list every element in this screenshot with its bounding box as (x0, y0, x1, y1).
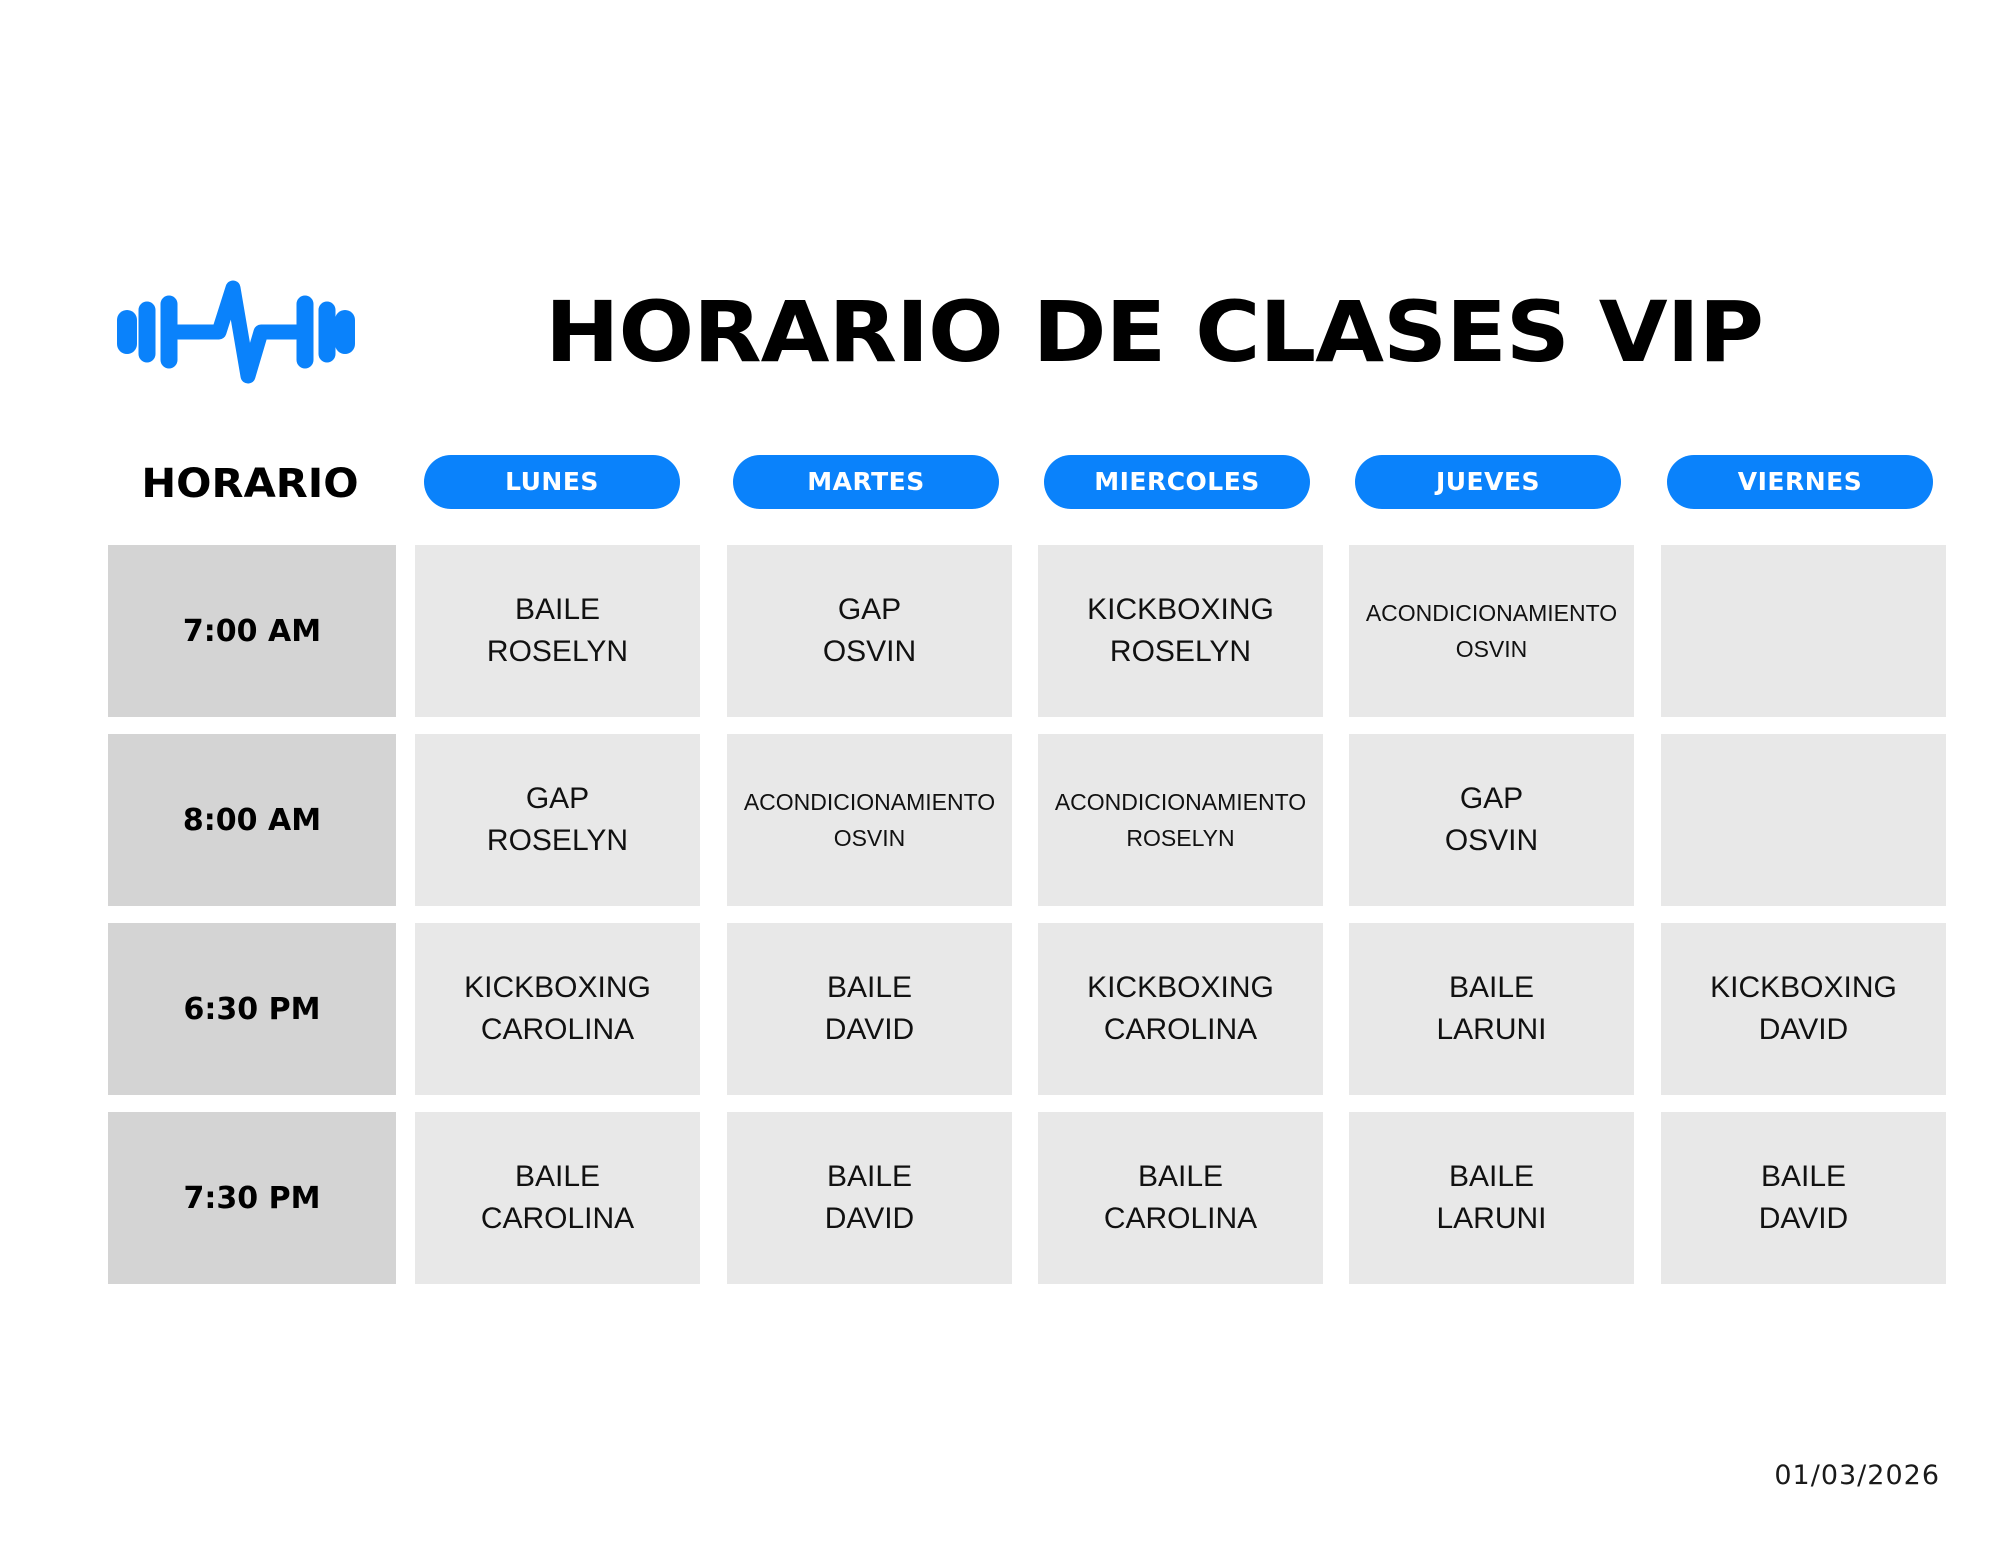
class-name: KICKBOXING (1710, 967, 1897, 1009)
class-name: BAILE (827, 1156, 912, 1198)
instructor-name: LARUNI (1436, 1009, 1546, 1051)
instructor-name: DAVID (825, 1198, 914, 1240)
table-row: 8:00 AM GAP ROSELYN ACONDICIONAMIENTO OS… (0, 734, 2000, 906)
schedule-cell[interactable]: BAILE DAVID (1661, 1112, 1946, 1284)
schedule-cell[interactable]: BAILE LARUNI (1349, 923, 1634, 1095)
class-name: GAP (1460, 778, 1523, 820)
class-name: GAP (838, 589, 901, 631)
schedule-poster: HORARIO DE CLASES VIP HORARIO LUNES MART… (0, 0, 2000, 1545)
schedule-grid: 7:00 AM BAILE ROSELYN GAP OSVIN KICKBOXI… (0, 545, 2000, 1301)
instructor-name: ROSELYN (487, 631, 628, 673)
schedule-cell[interactable]: GAP OSVIN (727, 545, 1012, 717)
class-name: KICKBOXING (1087, 967, 1274, 1009)
instructor-name: ROSELYN (1126, 820, 1234, 856)
time-column-header: HORARIO (125, 455, 375, 513)
schedule-cell[interactable]: KICKBOXING DAVID (1661, 923, 1946, 1095)
class-name: BAILE (1449, 1156, 1534, 1198)
table-row: 6:30 PM KICKBOXING CAROLINA BAILE DAVID … (0, 923, 2000, 1095)
class-name: BAILE (1449, 967, 1534, 1009)
class-name: ACONDICIONAMIENTO (1366, 595, 1617, 631)
instructor-name: DAVID (825, 1009, 914, 1051)
schedule-cell-empty[interactable] (1661, 545, 1946, 717)
time-cell: 6:30 PM (108, 923, 396, 1095)
schedule-cell[interactable]: BAILE CAROLINA (415, 1112, 700, 1284)
time-cell: 7:00 AM (108, 545, 396, 717)
schedule-cell[interactable]: ACONDICIONAMIENTO OSVIN (1349, 545, 1634, 717)
schedule-cell[interactable]: BAILE DAVID (727, 1112, 1012, 1284)
column-headers: HORARIO LUNES MARTES MIERCOLES JUEVES VI… (0, 455, 2000, 517)
day-header-viernes[interactable]: VIERNES (1667, 455, 1933, 509)
instructor-name: ROSELYN (487, 820, 628, 862)
class-name: BAILE (1138, 1156, 1223, 1198)
time-cell: 7:30 PM (108, 1112, 396, 1284)
footer-date: 01/03/2026 (1774, 1460, 1940, 1491)
instructor-name: CAROLINA (1104, 1198, 1257, 1240)
instructor-name: OSVIN (834, 820, 906, 856)
page-title: HORARIO DE CLASES VIP (545, 272, 1870, 392)
instructor-name: OSVIN (823, 631, 916, 673)
class-name: ACONDICIONAMIENTO (744, 784, 995, 820)
class-name: BAILE (515, 1156, 600, 1198)
instructor-name: CAROLINA (481, 1198, 634, 1240)
class-name: GAP (526, 778, 589, 820)
poster-header: HORARIO DE CLASES VIP (0, 272, 2000, 392)
day-header-martes[interactable]: MARTES (733, 455, 999, 509)
day-header-miercoles[interactable]: MIERCOLES (1044, 455, 1310, 509)
instructor-name: OSVIN (1445, 820, 1538, 862)
instructor-name: OSVIN (1456, 631, 1528, 667)
class-name: ACONDICIONAMIENTO (1055, 784, 1306, 820)
class-name: BAILE (515, 589, 600, 631)
class-name: BAILE (827, 967, 912, 1009)
table-row: 7:00 AM BAILE ROSELYN GAP OSVIN KICKBOXI… (0, 545, 2000, 717)
day-header-jueves[interactable]: JUEVES (1355, 455, 1621, 509)
day-header-lunes[interactable]: LUNES (424, 455, 680, 509)
instructor-name: CAROLINA (1104, 1009, 1257, 1051)
class-name: KICKBOXING (464, 967, 651, 1009)
schedule-cell[interactable]: KICKBOXING CAROLINA (415, 923, 700, 1095)
schedule-cell-empty[interactable] (1661, 734, 1946, 906)
schedule-cell[interactable]: BAILE DAVID (727, 923, 1012, 1095)
instructor-name: DAVID (1759, 1198, 1848, 1240)
schedule-cell[interactable]: GAP ROSELYN (415, 734, 700, 906)
schedule-cell[interactable]: GAP OSVIN (1349, 734, 1634, 906)
instructor-name: CAROLINA (481, 1009, 634, 1051)
schedule-cell[interactable]: KICKBOXING ROSELYN (1038, 545, 1323, 717)
instructor-name: DAVID (1759, 1009, 1848, 1051)
schedule-cell[interactable]: ACONDICIONAMIENTO ROSELYN (1038, 734, 1323, 906)
schedule-cell[interactable]: BAILE CAROLINA (1038, 1112, 1323, 1284)
schedule-cell[interactable]: BAILE ROSELYN (415, 545, 700, 717)
time-cell: 8:00 AM (108, 734, 396, 906)
class-name: BAILE (1761, 1156, 1846, 1198)
schedule-cell[interactable]: KICKBOXING CAROLINA (1038, 923, 1323, 1095)
schedule-cell[interactable]: ACONDICIONAMIENTO OSVIN (727, 734, 1012, 906)
class-name: KICKBOXING (1087, 589, 1274, 631)
schedule-cell[interactable]: BAILE LARUNI (1349, 1112, 1634, 1284)
instructor-name: LARUNI (1436, 1198, 1546, 1240)
instructor-name: ROSELYN (1110, 631, 1251, 673)
table-row: 7:30 PM BAILE CAROLINA BAILE DAVID BAILE… (0, 1112, 2000, 1284)
dumbbell-pulse-icon (110, 274, 360, 389)
